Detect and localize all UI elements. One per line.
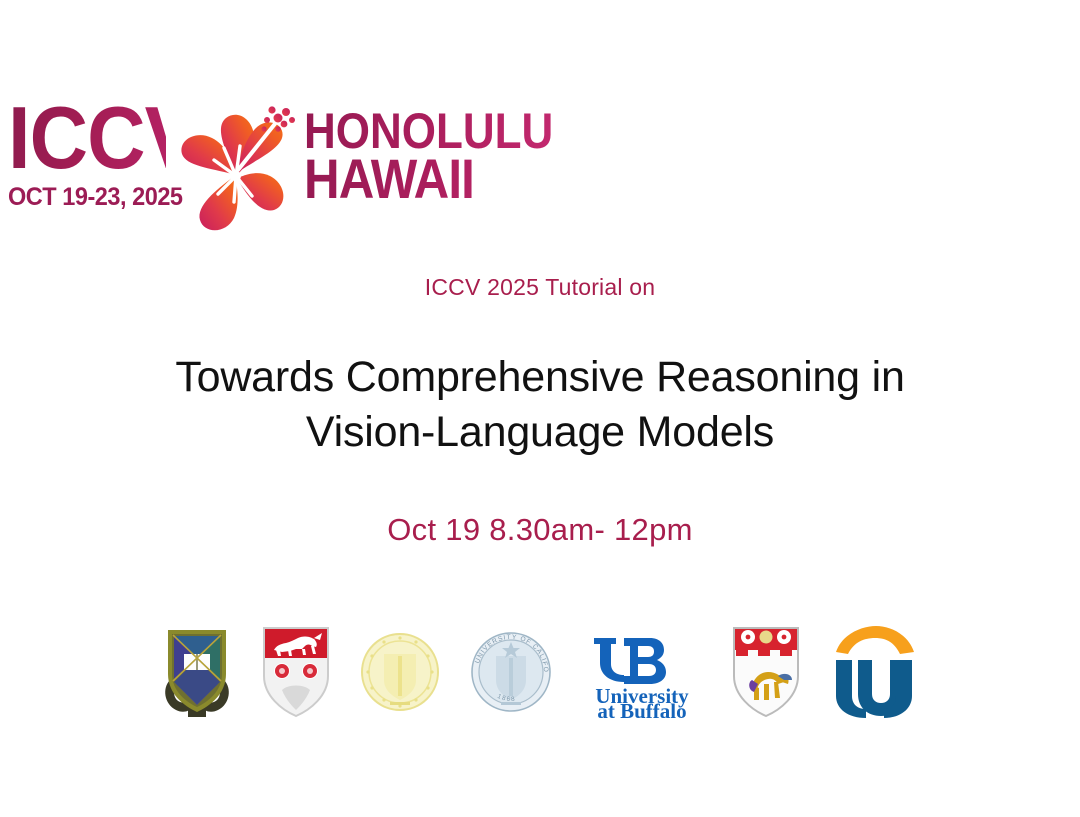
logo-pale-gold-seal	[358, 622, 442, 722]
session-datetime: Oct 19 8.30am- 12pm	[0, 512, 1080, 548]
logo-university-of-california: UNIVERSITY OF CALIFORNIA 1868	[468, 622, 554, 722]
hibiscus-icon	[174, 98, 298, 238]
slide-canvas: ICCV OCT 19-23, 2025	[0, 0, 1080, 817]
affiliation-logo-strip: UNIVERSITY OF CALIFORNIA 1868 University	[0, 612, 1080, 732]
logo-university-of-queensland	[160, 622, 234, 722]
logo-national-university-singapore	[730, 622, 802, 722]
hawaii-text: HAWAII	[304, 153, 553, 206]
honolulu-hawaii-wordmark: HONOLULU HAWAII	[304, 98, 587, 206]
iccv-wordmark-group: ICCV OCT 19-23, 2025	[8, 98, 180, 238]
iccv-conference-logo: ICCV OCT 19-23, 2025	[8, 98, 478, 244]
logo-kings-college-london	[260, 622, 332, 722]
page-title: Towards Comprehensive Reasoning in Visio…	[0, 350, 1080, 459]
page-title-line-1: Towards Comprehensive Reasoning in	[0, 350, 1080, 405]
iccv-dates: OCT 19-23, 2025	[8, 183, 170, 212]
logo-university-at-buffalo: University at Buffalo	[580, 622, 704, 722]
logo-university-of-technology-sydney	[828, 622, 920, 722]
page-title-line-2: Vision-Language Models	[0, 405, 1080, 460]
iccv-acronym: ICCV	[8, 98, 166, 179]
svg-text:at Buffalo: at Buffalo	[597, 699, 686, 720]
tutorial-subtitle: ICCV 2025 Tutorial on	[0, 274, 1080, 301]
